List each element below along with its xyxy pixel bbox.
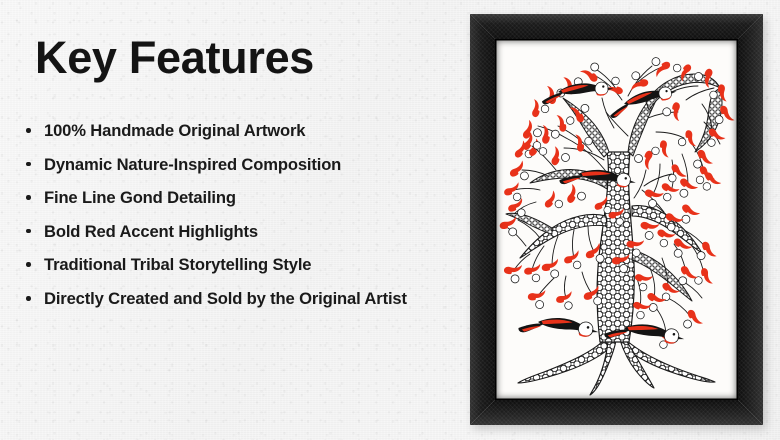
bullet-dot-icon <box>26 296 31 301</box>
list-item-label: Bold Red Accent Highlights <box>44 215 468 249</box>
content-column: Key Features 100% Handmade Original Artw… <box>0 0 470 440</box>
framed-artwork <box>470 14 763 425</box>
bullet-dot-icon <box>26 195 31 200</box>
frame-edge-bottom <box>470 399 763 425</box>
gond-tree-of-life-drawing <box>496 40 737 399</box>
list-item: 100% Handmade Original Artwork <box>22 114 468 148</box>
list-item: Traditional Tribal Storytelling Style <box>22 248 468 282</box>
bullet-dot-icon <box>26 162 31 167</box>
bullet-dot-icon <box>26 229 31 234</box>
list-item-label: Dynamic Nature-Inspired Composition <box>44 148 468 182</box>
painting-canvas <box>496 40 737 399</box>
list-item: Dynamic Nature-Inspired Composition <box>22 148 468 182</box>
list-item-label: Fine Line Gond Detailing <box>44 181 468 215</box>
bullet-dot-icon <box>26 262 31 267</box>
frame-edge-right <box>737 14 763 425</box>
list-item-label: Traditional Tribal Storytelling Style <box>44 248 468 282</box>
page-title: Key Features <box>35 34 314 81</box>
frame-edge-left <box>470 14 496 425</box>
list-item: Bold Red Accent Highlights <box>22 215 468 249</box>
list-item-label: Directly Created and Sold by the Origina… <box>44 282 468 316</box>
frame-edge-top <box>470 14 763 40</box>
key-features-list: 100% Handmade Original Artwork Dynamic N… <box>22 114 468 316</box>
bullet-dot-icon <box>26 128 31 133</box>
list-item-label: 100% Handmade Original Artwork <box>44 114 468 148</box>
list-item: Directly Created and Sold by the Origina… <box>22 282 468 316</box>
list-item: Fine Line Gond Detailing <box>22 181 468 215</box>
